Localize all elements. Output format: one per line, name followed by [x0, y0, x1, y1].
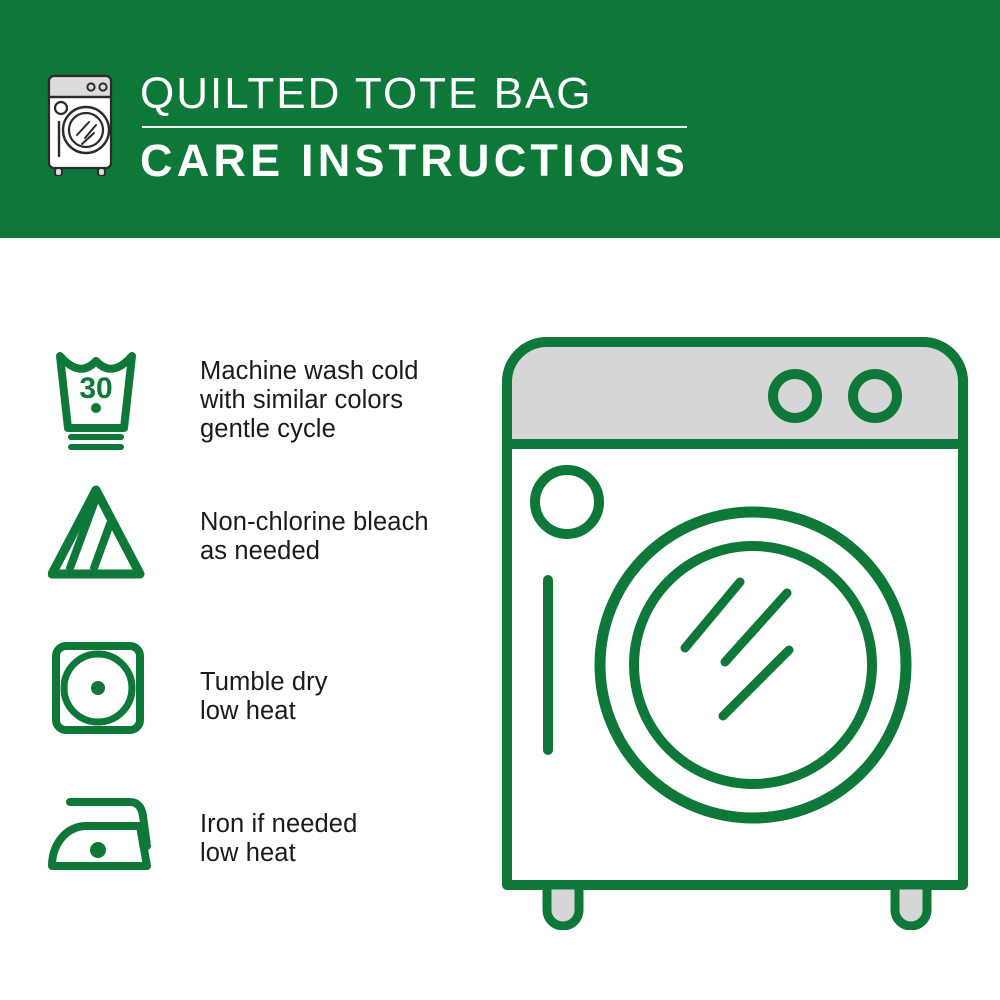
care-instructions-page: QUILTED TOTE BAG CARE INSTRUCTIONS 30 [0, 0, 1000, 1000]
front-load-washing-machine-illustration [495, 330, 975, 930]
machine-foot-right [895, 885, 927, 926]
header-title-block: QUILTED TOTE BAG CARE INSTRUCTIONS [140, 68, 700, 188]
care-text-iron: Iron if needed low heat [200, 810, 357, 868]
care-text-tumble-dry: Tumble dry low heat [200, 668, 328, 726]
header-banner: QUILTED TOTE BAG CARE INSTRUCTIONS [0, 0, 1000, 238]
iron-low-heat-icon [48, 788, 166, 898]
page-title: QUILTED TOTE BAG [140, 68, 700, 120]
care-instruction-list: 30 Machine wash cold with similar colors… [0, 238, 470, 1000]
page-subtitle: CARE INSTRUCTIONS [140, 134, 700, 188]
machine-foot-left [547, 885, 579, 926]
care-text-wash: Machine wash cold with similar colors ge… [200, 357, 419, 444]
washing-machine-icon [44, 72, 116, 176]
wash-temperature-label: 30 [79, 372, 112, 405]
non-chlorine-bleach-triangle-icon [48, 482, 166, 592]
tumble-dry-low-heat-icon [48, 638, 166, 748]
title-divider [142, 126, 687, 128]
care-text-bleach: Non-chlorine bleach as needed [200, 508, 429, 566]
wash-tub-30-gentle-icon: 30 [48, 342, 166, 452]
